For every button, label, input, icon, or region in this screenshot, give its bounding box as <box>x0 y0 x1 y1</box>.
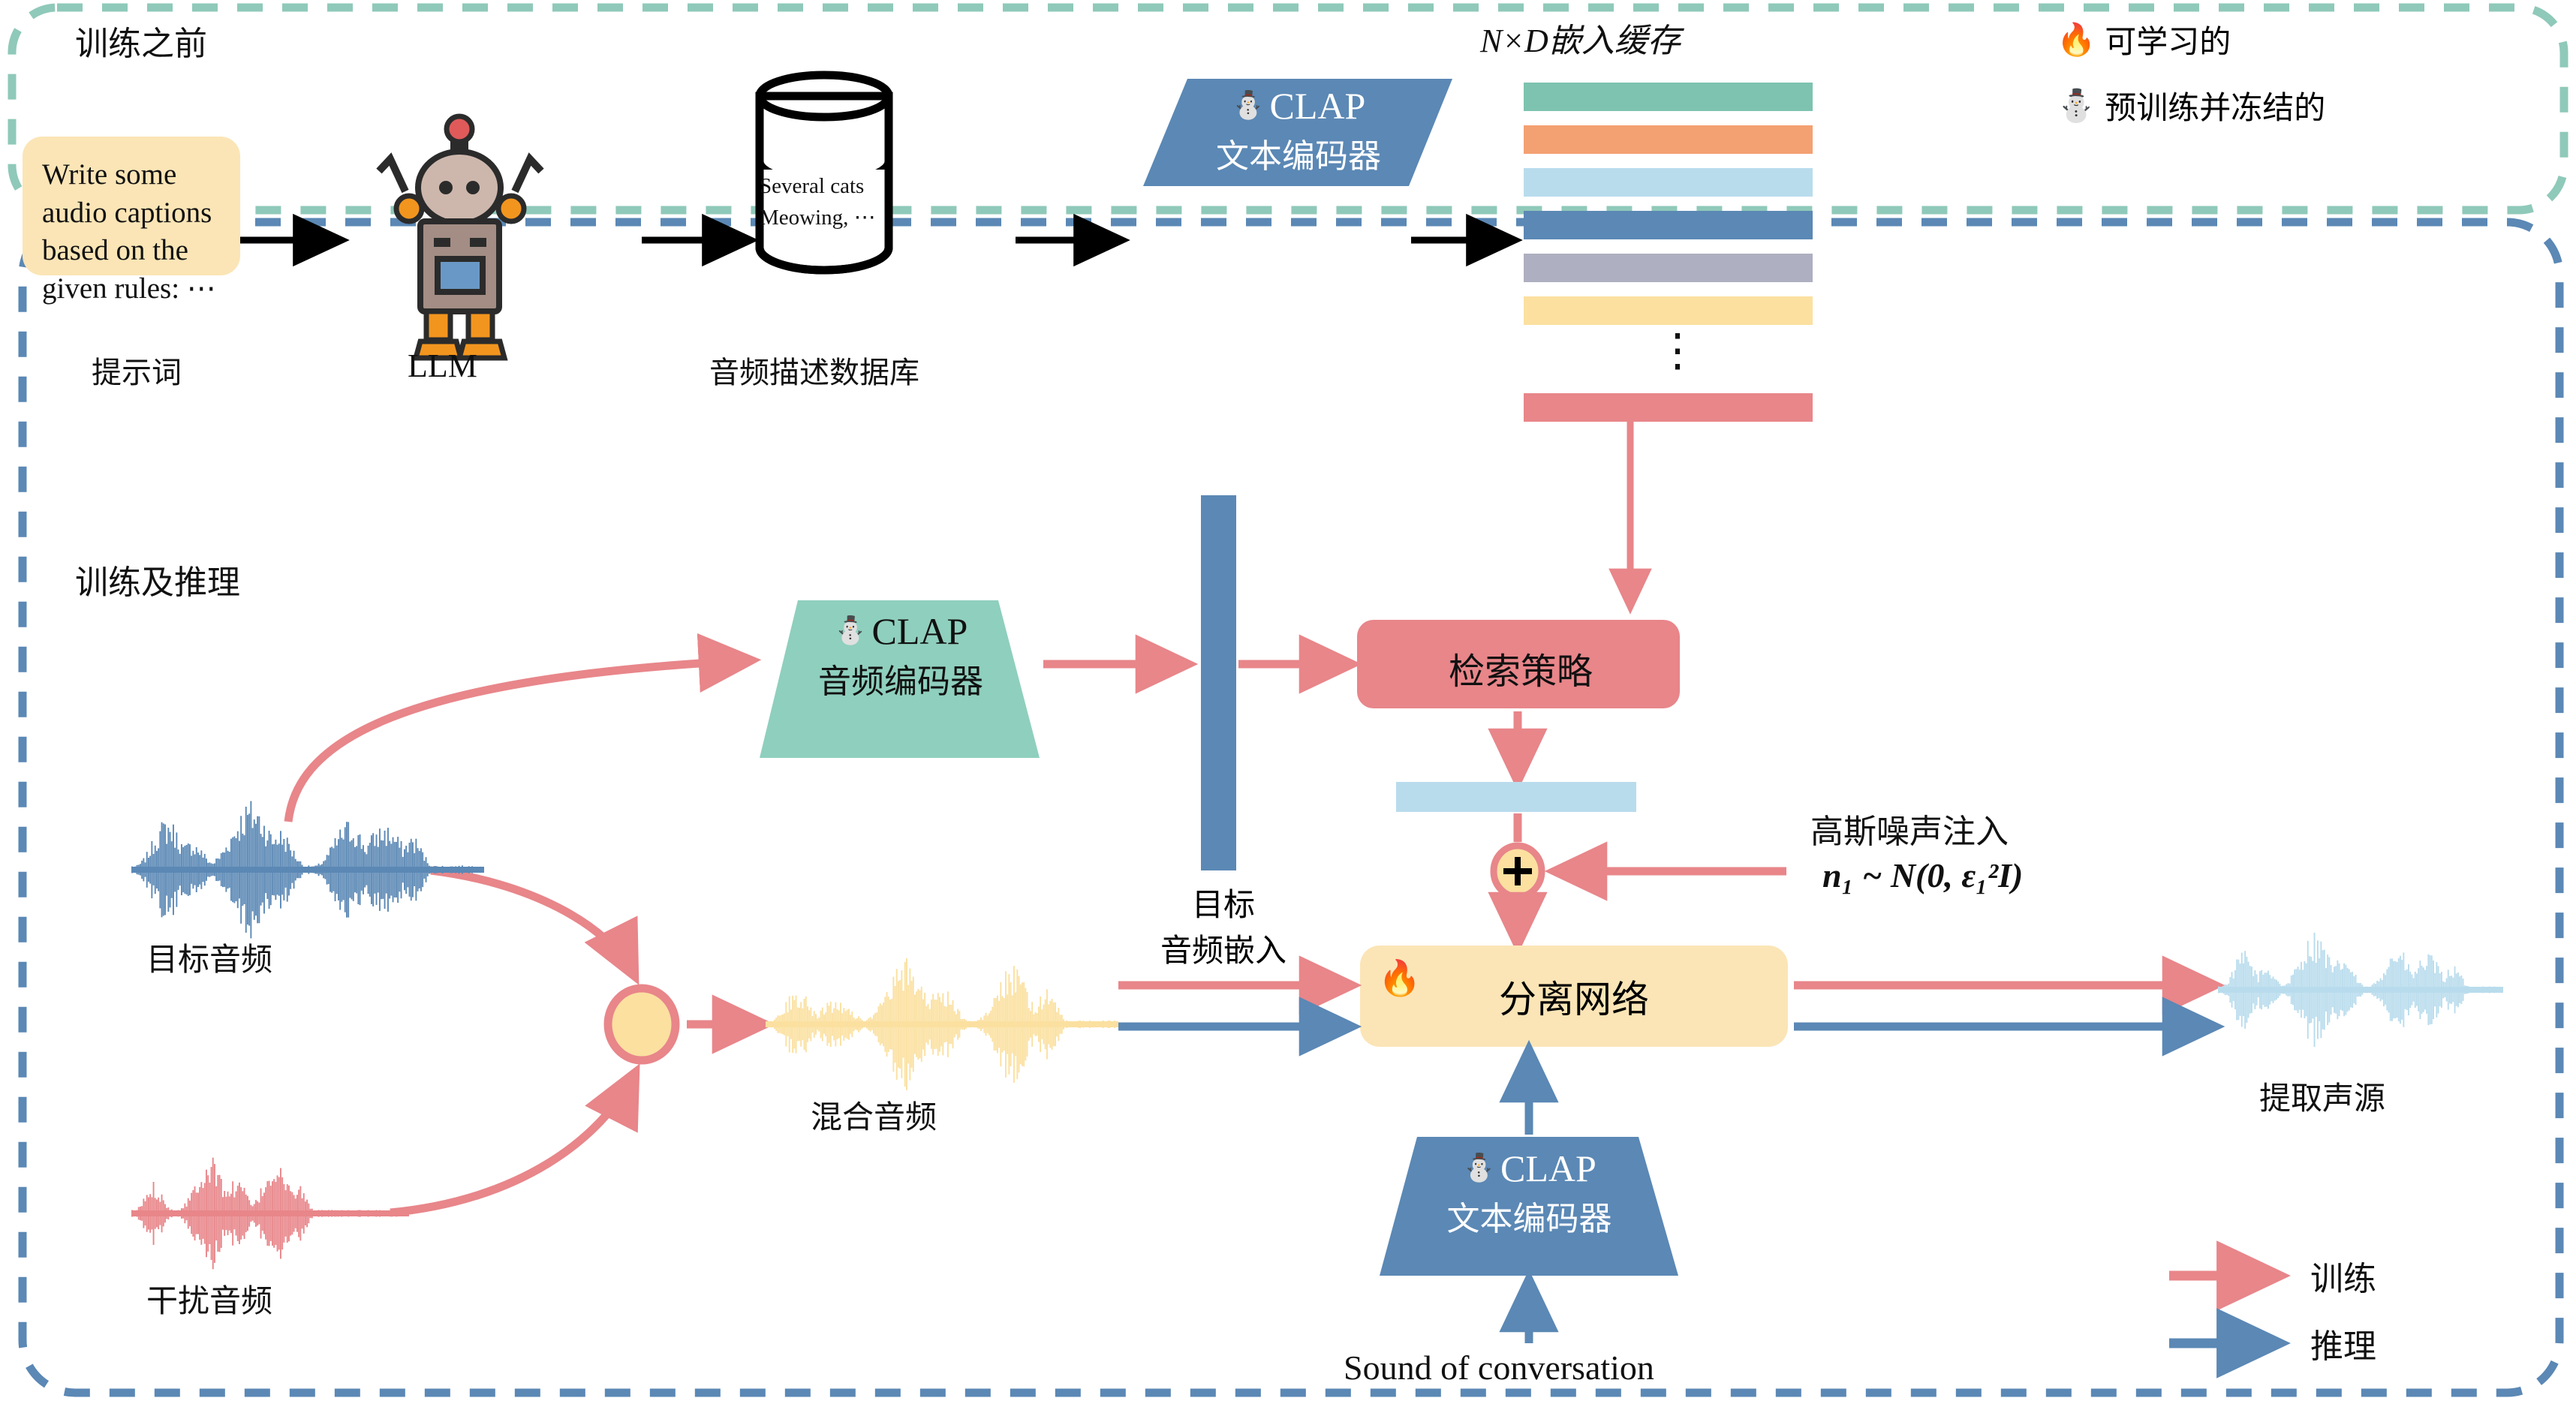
retrieved-embedding-bar <box>1396 782 1636 812</box>
clap-audio-encoder-title: CLAP <box>872 609 968 653</box>
clap-text-encoder-bottom: ⛄ CLAP 文本编码器 <box>1400 1147 1659 1240</box>
waveform-mixed-audio <box>766 958 1118 1090</box>
database-cylinder-icon <box>760 75 889 270</box>
clap-text-encoder-top-title: CLAP <box>1270 84 1366 128</box>
waveform-extracted-source <box>2218 933 2503 1047</box>
clap-text-encoder-bottom-title: CLAP <box>1500 1147 1596 1190</box>
target-embedding-bar <box>1201 495 1236 870</box>
robot-icon <box>379 116 541 358</box>
waveform-interfere-audio <box>131 1158 409 1270</box>
database-text-line2: Meowing, ⋯ <box>760 204 876 230</box>
clap-audio-encoder: ⛄ CLAP 音频编码器 <box>773 609 1028 702</box>
snowman-icon: ⛄ <box>1462 1155 1496 1182</box>
prompt-box: Write some audio captions based on the g… <box>23 137 240 275</box>
separation-network-label: 分离网络 <box>1499 970 1649 1024</box>
cache-ellipsis: ⋮ <box>1655 324 1700 377</box>
noise-title: 高斯噪声注入 <box>1810 804 2009 852</box>
diagram-vector-layer <box>0 0 2576 1407</box>
prompt-caption: 提示词 <box>92 348 182 392</box>
legend-learnable-label: 可学习的 <box>2105 17 2231 62</box>
clap-text-encoder-bottom-subtitle: 文本编码器 <box>1400 1192 1659 1240</box>
arrow-interfere-audio-to-mixer <box>390 1073 635 1213</box>
noise-formula: n₁ ~ N(0, ε₁²I) <box>1822 855 2023 895</box>
database-text-line1: Several cats <box>760 174 864 199</box>
snowman-icon: ⛄ <box>834 618 868 645</box>
extracted-source-label: 提取声源 <box>2259 1073 2385 1119</box>
diagram-canvas: 训练之前 训练及推理 🔥 可学习的 ⛄ 预训练并冻结的 Write some a… <box>0 0 2576 1407</box>
legend-learnable-item: 🔥 可学习的 <box>2057 17 2231 62</box>
bottom-section-title: 训练及推理 <box>75 555 240 603</box>
target-embedding-caption: 目标 音频嵌入 <box>1111 879 1336 971</box>
fire-icon: 🔥 <box>1378 961 1421 995</box>
target-embedding-line1: 目标 <box>1111 879 1336 925</box>
interfere-audio-label: 干扰音频 <box>146 1276 272 1321</box>
noise-formula-text: n₁ ~ N(0, ε₁²I) <box>1822 856 2023 894</box>
arrow-target-audio-to-mixer <box>431 870 634 976</box>
clap-audio-encoder-subtitle: 音频编码器 <box>773 654 1028 702</box>
clap-text-encoder-top: ⛄ CLAP 文本编码器 <box>1171 84 1426 177</box>
separation-network-content: 🔥 分离网络 <box>1360 946 1788 1047</box>
mix-node-icon <box>608 988 676 1060</box>
bottom-section-frame <box>23 222 2559 1393</box>
database-caption: 音频描述数据库 <box>709 348 919 392</box>
legend-frozen-item: ⛄ 预训练并冻结的 <box>2057 83 2325 128</box>
target-audio-label: 目标音频 <box>146 934 272 980</box>
legend-frozen-label: 预训练并冻结的 <box>2105 83 2325 128</box>
waveform-target-audio <box>131 801 484 939</box>
embedding-cache-title: N×D嵌入缓存 <box>1480 14 1681 62</box>
llm-caption: LLM <box>408 347 477 385</box>
snowman-icon: ⛄ <box>1232 92 1265 119</box>
arrow-target-audio-to-clap-audio <box>288 660 751 822</box>
legend-train-label: 训练 <box>2310 1252 2376 1300</box>
target-embedding-line2: 音频嵌入 <box>1111 925 1336 971</box>
legend-infer-label: 推理 <box>2310 1319 2376 1367</box>
mixed-audio-label: 混合音频 <box>811 1092 937 1138</box>
top-section-title: 训练之前 <box>75 17 207 65</box>
retrieval-strategy-label: 检索策略 <box>1449 642 1593 694</box>
text-prompt: Sound of conversation <box>1344 1348 1654 1387</box>
clap-text-encoder-top-subtitle: 文本编码器 <box>1171 129 1426 177</box>
snowman-icon: ⛄ <box>2057 90 2096 122</box>
fire-icon: 🔥 <box>2057 24 2096 56</box>
